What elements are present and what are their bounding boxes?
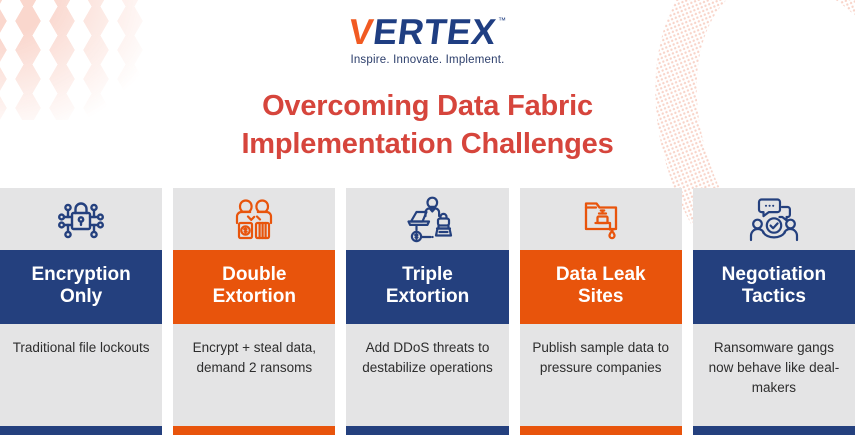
page-title-line-1: Overcoming Data Fabric <box>0 88 855 126</box>
card-footer-bar <box>0 426 162 435</box>
card-body-double-extortion: Encrypt + steal data, demand 2 ransoms <box>173 324 335 426</box>
card-title-line-2: Extortion <box>179 286 329 308</box>
card-footer-bar <box>520 426 682 435</box>
card-title-line-1: Triple <box>352 264 502 286</box>
card-encryption-only: Encryption Only Traditional file lockout… <box>0 188 162 435</box>
card-data-leak-sites: Data Leak Sites Publish sample data to p… <box>520 188 682 435</box>
card-title-line-1: Negotiation <box>699 264 849 286</box>
card-title-line-1: Data Leak <box>526 264 676 286</box>
folder-faucet-leak-icon <box>520 188 682 250</box>
card-body-data-leak-sites: Publish sample data to pressure companie… <box>520 324 682 426</box>
card-row: Encryption Only Traditional file lockout… <box>0 188 855 435</box>
card-title-line-1: Encryption <box>6 264 156 286</box>
card-body-triple-extortion: Add DDoS threats to destabilize operatio… <box>346 324 508 426</box>
card-triple-extortion: Triple Extortion Add DDoS threats to des… <box>346 188 508 435</box>
card-negotiation-tactics: Negotiation Tactics Ransomware gangs now… <box>693 188 855 435</box>
card-title-encryption-only: Encryption Only <box>0 250 162 324</box>
logo-letters-ertex: ERTEX <box>371 11 499 52</box>
encryption-lock-icon <box>0 188 162 250</box>
card-footer-bar <box>173 426 335 435</box>
laptop-hacker-ddos-icon <box>346 188 508 250</box>
card-title-data-leak-sites: Data Leak Sites <box>520 250 682 324</box>
card-body-encryption-only: Traditional file lockouts <box>0 324 162 426</box>
card-title-line-2: Only <box>6 286 156 308</box>
logo-mark: VERTEX ™ <box>349 14 506 50</box>
brand-logo: VERTEX ™ Inspire. Innovate. Implement. <box>0 14 855 66</box>
logo-wordmark: VERTEX <box>347 14 498 50</box>
two-people-ransom-bag-icon <box>173 188 335 250</box>
card-body-negotiation-tactics: Ransomware gangs now behave like deal-ma… <box>693 324 855 426</box>
page-title-line-2: Implementation Challenges <box>0 126 855 164</box>
card-footer-bar <box>346 426 508 435</box>
card-title-line-2: Sites <box>526 286 676 308</box>
card-double-extortion: Double Extortion Encrypt + steal data, d… <box>173 188 335 435</box>
card-title-triple-extortion: Triple Extortion <box>346 250 508 324</box>
card-title-line-2: Tactics <box>699 286 849 308</box>
brand-tagline: Inspire. Innovate. Implement. <box>350 54 504 66</box>
card-title-line-1: Double <box>179 264 329 286</box>
card-title-double-extortion: Double Extortion <box>173 250 335 324</box>
card-title-line-2: Extortion <box>352 286 502 308</box>
page-title: Overcoming Data Fabric Implementation Ch… <box>0 88 855 163</box>
trademark-symbol: ™ <box>498 17 506 25</box>
card-footer-bar <box>693 426 855 435</box>
card-title-negotiation-tactics: Negotiation Tactics <box>693 250 855 324</box>
handshake-negotiation-icon <box>693 188 855 250</box>
